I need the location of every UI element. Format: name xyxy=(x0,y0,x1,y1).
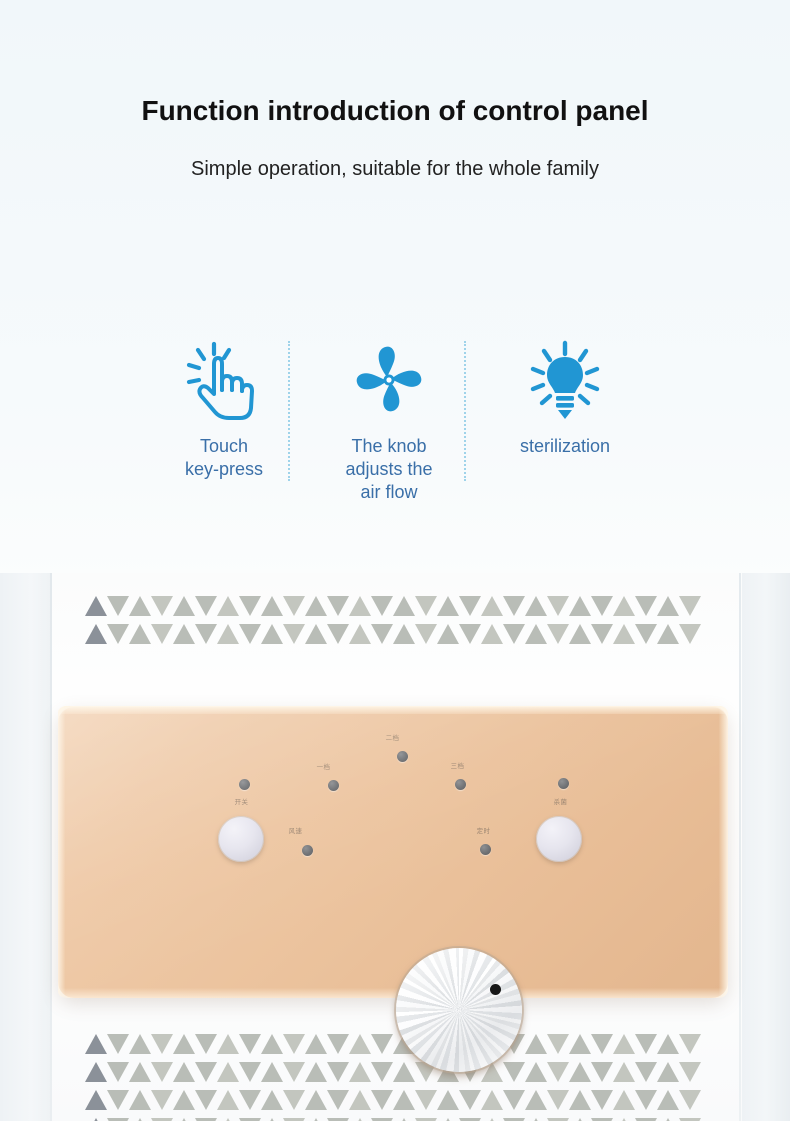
grille-vent xyxy=(547,624,569,644)
panel-highlight-left xyxy=(58,706,65,998)
grille-vent xyxy=(283,1090,305,1110)
grille-vent xyxy=(195,1062,217,1082)
grille-vent xyxy=(151,624,173,644)
grille-vent xyxy=(349,624,371,644)
led-power xyxy=(239,779,250,790)
panel-highlight-bottom xyxy=(58,988,728,998)
grille-vent xyxy=(305,1034,327,1054)
appliance-left-edge xyxy=(50,573,52,1121)
feature-label: sterilization xyxy=(520,435,610,458)
grille-vent xyxy=(85,624,107,644)
grille-vent xyxy=(261,1090,283,1110)
led-gear-1 xyxy=(328,780,339,791)
grille-vent xyxy=(195,1090,217,1110)
feature-knob-air-flow: The knob adjusts the air flow xyxy=(314,335,464,504)
grille-vent xyxy=(239,596,261,616)
air-flow-knob[interactable] xyxy=(395,948,523,1074)
grille-vent xyxy=(569,1034,591,1054)
grille-vent xyxy=(261,1034,283,1054)
grille-vent xyxy=(371,624,393,644)
grille-vent xyxy=(173,1034,195,1054)
grille-vent xyxy=(503,1090,525,1110)
grille-vent xyxy=(85,1062,107,1082)
page-subtitle: Simple operation, suitable for the whole… xyxy=(0,158,790,181)
touch-hand-icon xyxy=(182,335,266,427)
grille-vent xyxy=(481,624,503,644)
grille-vent xyxy=(635,596,657,616)
grille-vent xyxy=(437,1090,459,1110)
grille-vent xyxy=(459,1090,481,1110)
grille-vent xyxy=(261,596,283,616)
grille-vent xyxy=(657,596,679,616)
grille-vent xyxy=(547,596,569,616)
grille-vent xyxy=(261,624,283,644)
grille-vent xyxy=(283,624,305,644)
grille-vent xyxy=(525,596,547,616)
product-photo: 二档 一档 三档 风速 定时 开关 杀菌 xyxy=(0,573,790,1121)
grille-vent xyxy=(349,1062,371,1082)
page-title: Function introduction of control panel xyxy=(0,95,790,127)
grille-vent xyxy=(481,1090,503,1110)
power-touch-button[interactable] xyxy=(218,816,264,862)
grille-vent xyxy=(613,1034,635,1054)
grille-vent xyxy=(613,624,635,644)
grille-vent xyxy=(151,1034,173,1054)
grille-vent xyxy=(547,1062,569,1082)
grille-vent xyxy=(503,596,525,616)
marker-label-gear-1: 一档 xyxy=(317,762,331,771)
grille-vent xyxy=(591,1090,613,1110)
feature-gap xyxy=(464,335,490,481)
grille-vent xyxy=(327,1062,349,1082)
grille-vent xyxy=(349,596,371,616)
grille-vent xyxy=(481,596,503,616)
grille-vent xyxy=(107,1090,129,1110)
grille-vent xyxy=(635,1034,657,1054)
grille-vent xyxy=(569,1062,591,1082)
grille-vent xyxy=(349,1090,371,1110)
marker-label-low: 风速 xyxy=(289,826,303,835)
grille-vent xyxy=(129,1062,151,1082)
grille-vent xyxy=(657,1062,679,1082)
grille-vent xyxy=(635,1090,657,1110)
grille-vent xyxy=(129,1034,151,1054)
grille-vent xyxy=(195,624,217,644)
grille-vent xyxy=(635,624,657,644)
grille-vent xyxy=(217,596,239,616)
marker-label-gear-3: 三档 xyxy=(451,761,465,770)
grille-vent xyxy=(151,1062,173,1082)
grille-vent xyxy=(107,596,129,616)
grille-row xyxy=(85,1117,705,1121)
grille-vent xyxy=(635,1062,657,1082)
intro-section: Function introduction of control panel S… xyxy=(0,0,790,580)
sterilize-touch-button[interactable] xyxy=(536,816,582,862)
feature-divider xyxy=(288,341,290,481)
grille-vent xyxy=(569,596,591,616)
grille-vent xyxy=(85,1034,107,1054)
product-feature-page: Function introduction of control panel S… xyxy=(0,0,790,1121)
grille-vent xyxy=(173,1062,195,1082)
panel-highlight-top xyxy=(58,706,728,714)
grille-vent xyxy=(349,1034,371,1054)
grille-vent xyxy=(173,624,195,644)
grille-vent xyxy=(415,1090,437,1110)
grille-vent xyxy=(415,624,437,644)
grille-vent xyxy=(217,1034,239,1054)
fan-blade-icon xyxy=(347,335,431,427)
feature-gap xyxy=(288,335,314,481)
grille-vent xyxy=(437,596,459,616)
grille-vent xyxy=(151,596,173,616)
grille-vent xyxy=(591,1062,613,1082)
grille-vent xyxy=(371,1062,393,1082)
grille-vent xyxy=(239,1062,261,1082)
grille-vent xyxy=(679,1090,701,1110)
grille-vent xyxy=(107,624,129,644)
grille-vent xyxy=(657,1034,679,1054)
grille-vent xyxy=(679,1034,701,1054)
grille-vent xyxy=(459,624,481,644)
marker-label-high: 定时 xyxy=(477,826,491,835)
appliance-right-edge xyxy=(739,573,741,1121)
grille-vent xyxy=(525,1034,547,1054)
grille-vent xyxy=(503,624,525,644)
button-label-power: 开关 xyxy=(235,797,249,806)
grille-vent xyxy=(85,1090,107,1110)
grille-vent xyxy=(525,1090,547,1110)
grille-vent xyxy=(393,596,415,616)
knob-face[interactable] xyxy=(396,948,522,1072)
grille-vent xyxy=(283,1034,305,1054)
panel-gloss xyxy=(58,706,728,998)
grille-vent xyxy=(679,1062,701,1082)
grille-vent xyxy=(261,1062,283,1082)
grille-vent xyxy=(327,624,349,644)
grille-vent xyxy=(305,1090,327,1110)
knob-indicator-dot xyxy=(490,984,501,995)
marker-label-gear-2: 二档 xyxy=(386,733,400,742)
grille-vent xyxy=(547,1034,569,1054)
grille-vent xyxy=(239,624,261,644)
grille-vent xyxy=(679,624,701,644)
grille-row xyxy=(85,595,705,619)
grille-vent xyxy=(569,1090,591,1110)
grille-vent xyxy=(415,596,437,616)
grille-vent xyxy=(591,1034,613,1054)
appliance-left-side xyxy=(0,573,52,1121)
grille-vent xyxy=(195,596,217,616)
grille-vent xyxy=(371,596,393,616)
knob-sheen xyxy=(396,948,522,1072)
grille-vent xyxy=(239,1090,261,1110)
control-panel[interactable]: 二档 一档 三档 风速 定时 开关 杀菌 xyxy=(58,706,728,998)
grille-vent xyxy=(151,1090,173,1110)
grille-vent xyxy=(613,1090,635,1110)
panel-highlight-right xyxy=(719,706,728,998)
grille-vent xyxy=(679,596,701,616)
grille-vent xyxy=(305,1062,327,1082)
grille-vent xyxy=(305,596,327,616)
grille-vent xyxy=(591,596,613,616)
grille-vent xyxy=(591,624,613,644)
led-gear-3 xyxy=(455,779,466,790)
grille-vent xyxy=(129,596,151,616)
grille-vent xyxy=(459,596,481,616)
grille-vent xyxy=(217,1062,239,1082)
grille-vent xyxy=(525,624,547,644)
grille-vent xyxy=(85,596,107,616)
grille-vent xyxy=(569,624,591,644)
grille-vent xyxy=(393,624,415,644)
grille-vent xyxy=(173,596,195,616)
grille-vent xyxy=(525,1062,547,1082)
feature-label: The knob adjusts the air flow xyxy=(345,435,432,504)
light-bulb-icon xyxy=(523,335,607,427)
grille-vent xyxy=(327,596,349,616)
grille-vent xyxy=(239,1034,261,1054)
grille-row xyxy=(85,623,705,647)
grille-vent xyxy=(129,624,151,644)
grille-vent xyxy=(195,1034,217,1054)
grille-vent xyxy=(657,1090,679,1110)
grille-vent xyxy=(547,1090,569,1110)
grille-vent xyxy=(327,1034,349,1054)
grille-vent xyxy=(217,624,239,644)
feature-list: Touch key-press xyxy=(140,335,660,535)
grille-vent xyxy=(283,596,305,616)
grille-vent xyxy=(217,1090,239,1110)
led-low xyxy=(302,845,313,856)
grille-vent xyxy=(129,1090,151,1110)
led-gear-2 xyxy=(397,751,408,762)
grille-vent xyxy=(107,1034,129,1054)
grille-vent xyxy=(173,1090,195,1110)
grille-vent xyxy=(393,1090,415,1110)
grille-vent xyxy=(437,624,459,644)
appliance-right-side xyxy=(742,573,790,1121)
feature-sterilization: sterilization xyxy=(490,335,640,458)
grille-vent xyxy=(657,624,679,644)
feature-touch-key-press: Touch key-press xyxy=(160,335,288,481)
led-high xyxy=(480,844,491,855)
feature-label: Touch key-press xyxy=(185,435,263,481)
grille-vent xyxy=(613,1062,635,1082)
grille-row xyxy=(85,1089,705,1113)
led-sterilize xyxy=(558,778,569,789)
feature-divider xyxy=(464,341,466,481)
button-label-sterilize: 杀菌 xyxy=(554,797,568,806)
grille-vent xyxy=(371,1090,393,1110)
grille-vent xyxy=(613,596,635,616)
grille-vent xyxy=(327,1090,349,1110)
grille-vent xyxy=(305,624,327,644)
air-outlet-grille xyxy=(85,595,705,657)
grille-vent xyxy=(107,1062,129,1082)
grille-vent xyxy=(371,1034,393,1054)
grille-vent xyxy=(283,1062,305,1082)
